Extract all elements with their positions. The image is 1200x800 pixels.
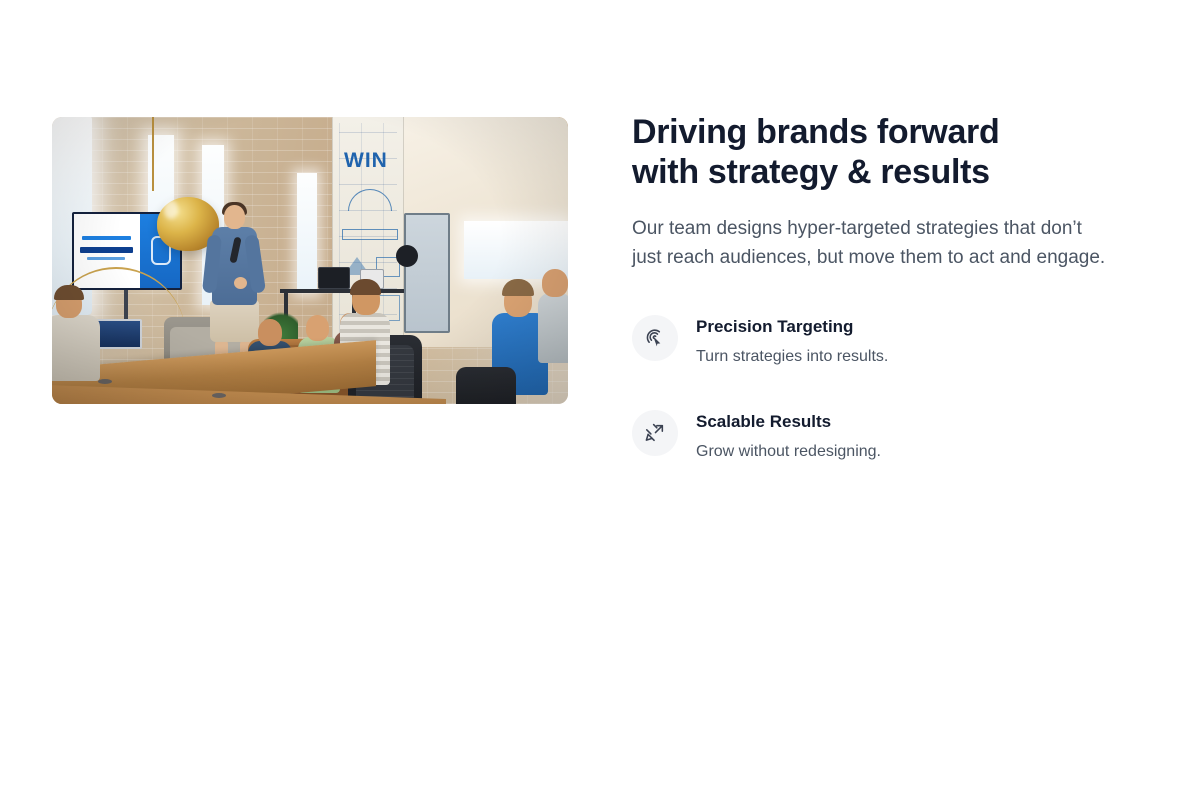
feature-title: Scalable Results (696, 411, 881, 433)
feature-item-precision-targeting: Precision Targeting Turn strategies into… (632, 314, 1152, 367)
hero-description: Our team designs hyper-targeted strategi… (632, 214, 1148, 272)
hero-image: WIN (52, 117, 568, 404)
feature-title: Precision Targeting (696, 316, 888, 338)
feature-description: Turn strategies into results. (696, 346, 888, 367)
cursor-target-icon (632, 315, 678, 361)
expand-arrow-icon (632, 410, 678, 456)
feature-text: Precision Targeting Turn strategies into… (696, 314, 888, 367)
hero-section: WIN (0, 0, 1200, 800)
feature-list: Precision Targeting Turn strategies into… (632, 314, 1152, 462)
feature-text: Scalable Results Grow without redesignin… (696, 409, 881, 462)
page-title: Driving brands forward with strategy & r… (632, 112, 1152, 192)
feature-item-scalable-results: Scalable Results Grow without redesignin… (632, 409, 1152, 462)
feature-description: Grow without redesigning. (696, 441, 881, 462)
photo-vignette (52, 117, 568, 404)
hero-content: Driving brands forward with strategy & r… (632, 112, 1152, 462)
office-meeting-photo: WIN (52, 117, 568, 404)
